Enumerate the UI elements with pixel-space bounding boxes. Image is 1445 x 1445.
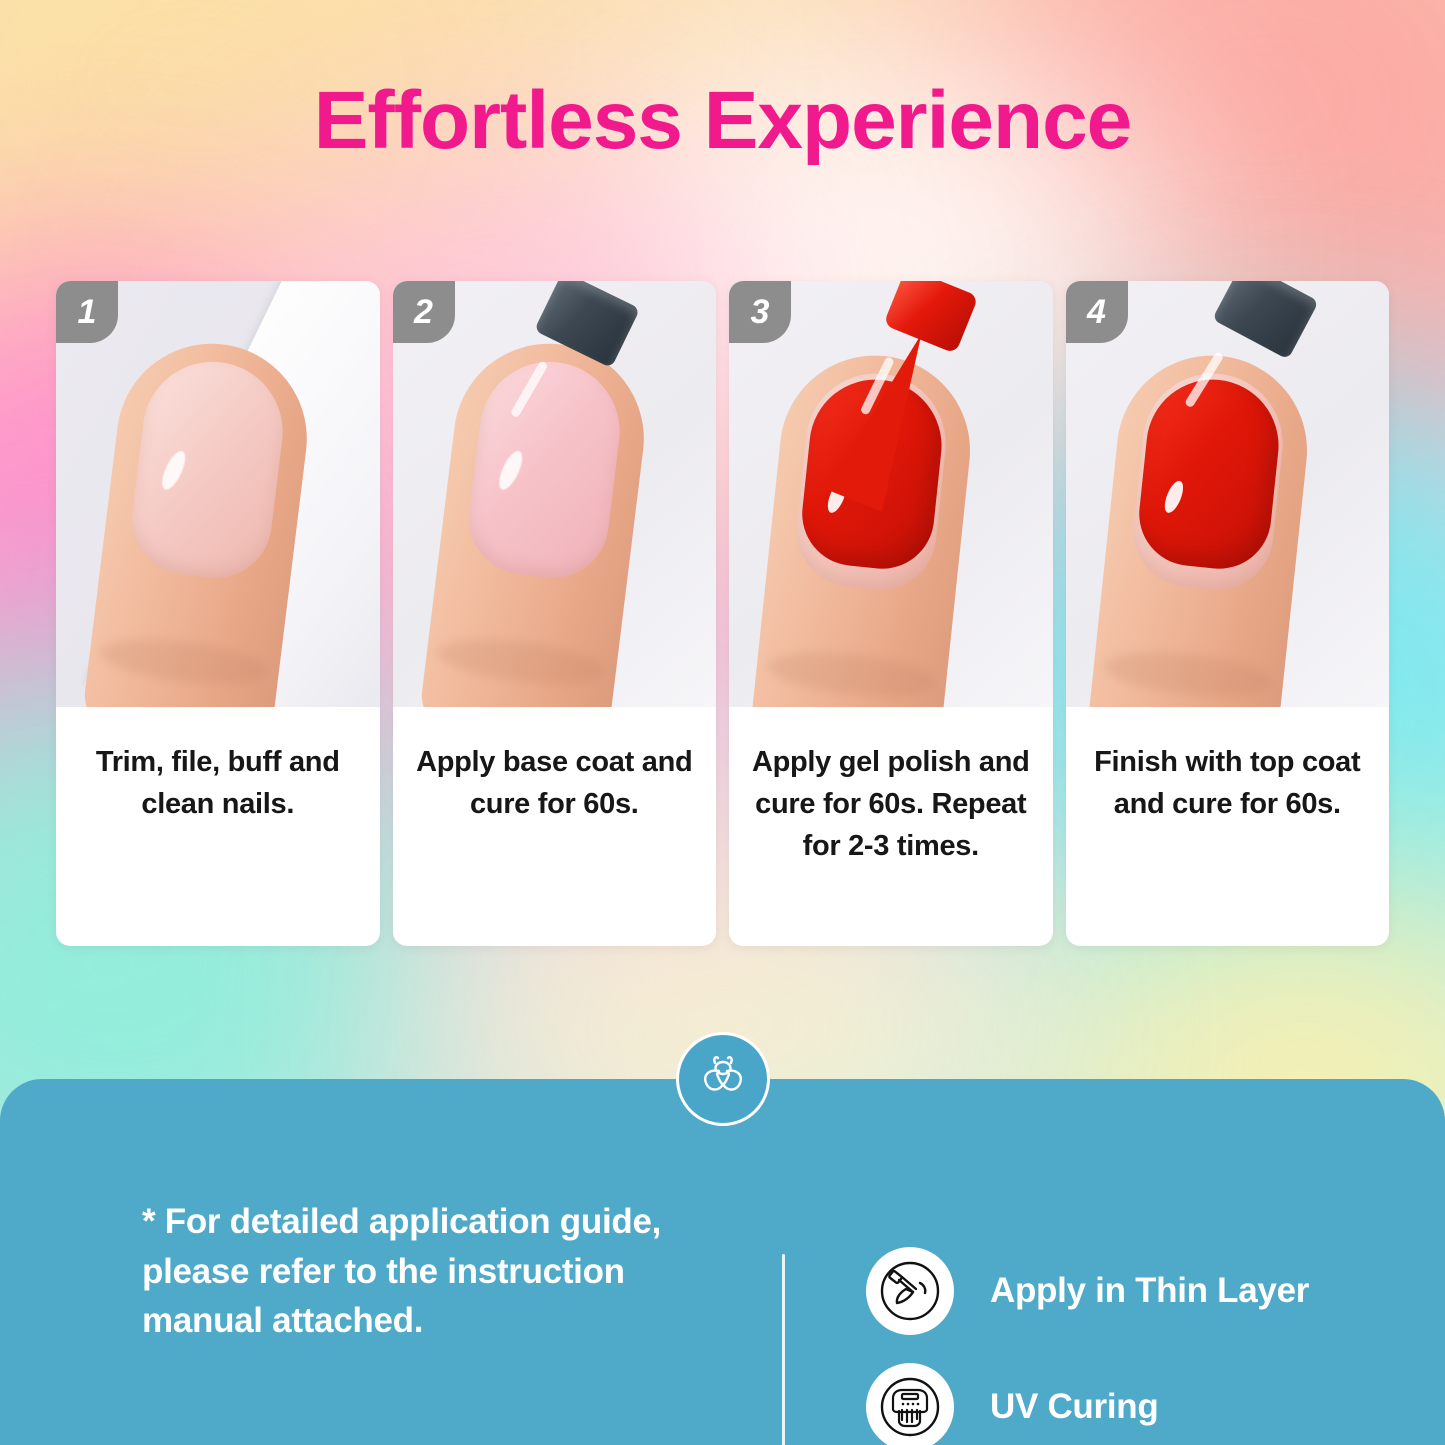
knuckle-crease	[765, 646, 938, 704]
step-photo-1: 1	[56, 281, 380, 707]
footer-panel: * For detailed application guide, please…	[0, 1079, 1445, 1445]
feature-label: UV Curing	[990, 1387, 1158, 1427]
step-photo-4: 4	[1066, 281, 1390, 707]
step-badge-4: 4	[1066, 281, 1128, 343]
poster-root: Effortless Experience 1 Trim, file, buff…	[0, 0, 1445, 1445]
step-badge-2: 2	[393, 281, 455, 343]
step-photo-2: 2	[393, 281, 717, 707]
step-badge-3: 3	[729, 281, 791, 343]
step-photo-3: 3	[729, 281, 1053, 707]
knuckle-crease	[434, 632, 608, 692]
knuckle-crease	[98, 632, 272, 692]
knuckle-crease	[1101, 646, 1274, 704]
step-card-1: 1 Trim, file, buff and clean nails.	[56, 281, 380, 946]
page-title: Effortless Experience	[0, 74, 1445, 168]
feature-list: Apply in Thin Layer	[866, 1247, 1309, 1445]
nail-shine	[494, 448, 526, 493]
footer-note: * For detailed application guide, please…	[142, 1197, 732, 1346]
base-coat-nail-illustration	[462, 354, 627, 584]
feature-apply-thin-layer: Apply in Thin Layer	[866, 1247, 1309, 1335]
nail-shine	[158, 448, 190, 493]
butterfly-logo-icon	[676, 1032, 770, 1126]
step-card-3: 3 Apply gel polish and cure for 60s. Rep…	[729, 281, 1053, 946]
bare-nail-illustration	[126, 354, 291, 584]
feature-uv-curing: UV Curing	[866, 1363, 1309, 1445]
step-card-4: 4 Finish with top coat and cure for 60s.	[1066, 281, 1390, 946]
step-caption-2: Apply base coat and cure for 60s.	[393, 707, 717, 946]
step-card-2: 2 Apply base coat and cure for 60s.	[393, 281, 717, 946]
brush-thin-layer-icon	[866, 1247, 954, 1335]
step-caption-3: Apply gel polish and cure for 60s. Repea…	[729, 707, 1053, 946]
uv-lamp-icon	[866, 1363, 954, 1445]
steps-row: 1 Trim, file, buff and clean nails.	[56, 281, 1389, 946]
step-caption-1: Trim, file, buff and clean nails.	[56, 707, 380, 946]
feature-label: Apply in Thin Layer	[990, 1271, 1309, 1311]
step-caption-4: Finish with top coat and cure for 60s.	[1066, 707, 1390, 946]
footer-divider	[782, 1254, 785, 1445]
step-badge-1: 1	[56, 281, 118, 343]
